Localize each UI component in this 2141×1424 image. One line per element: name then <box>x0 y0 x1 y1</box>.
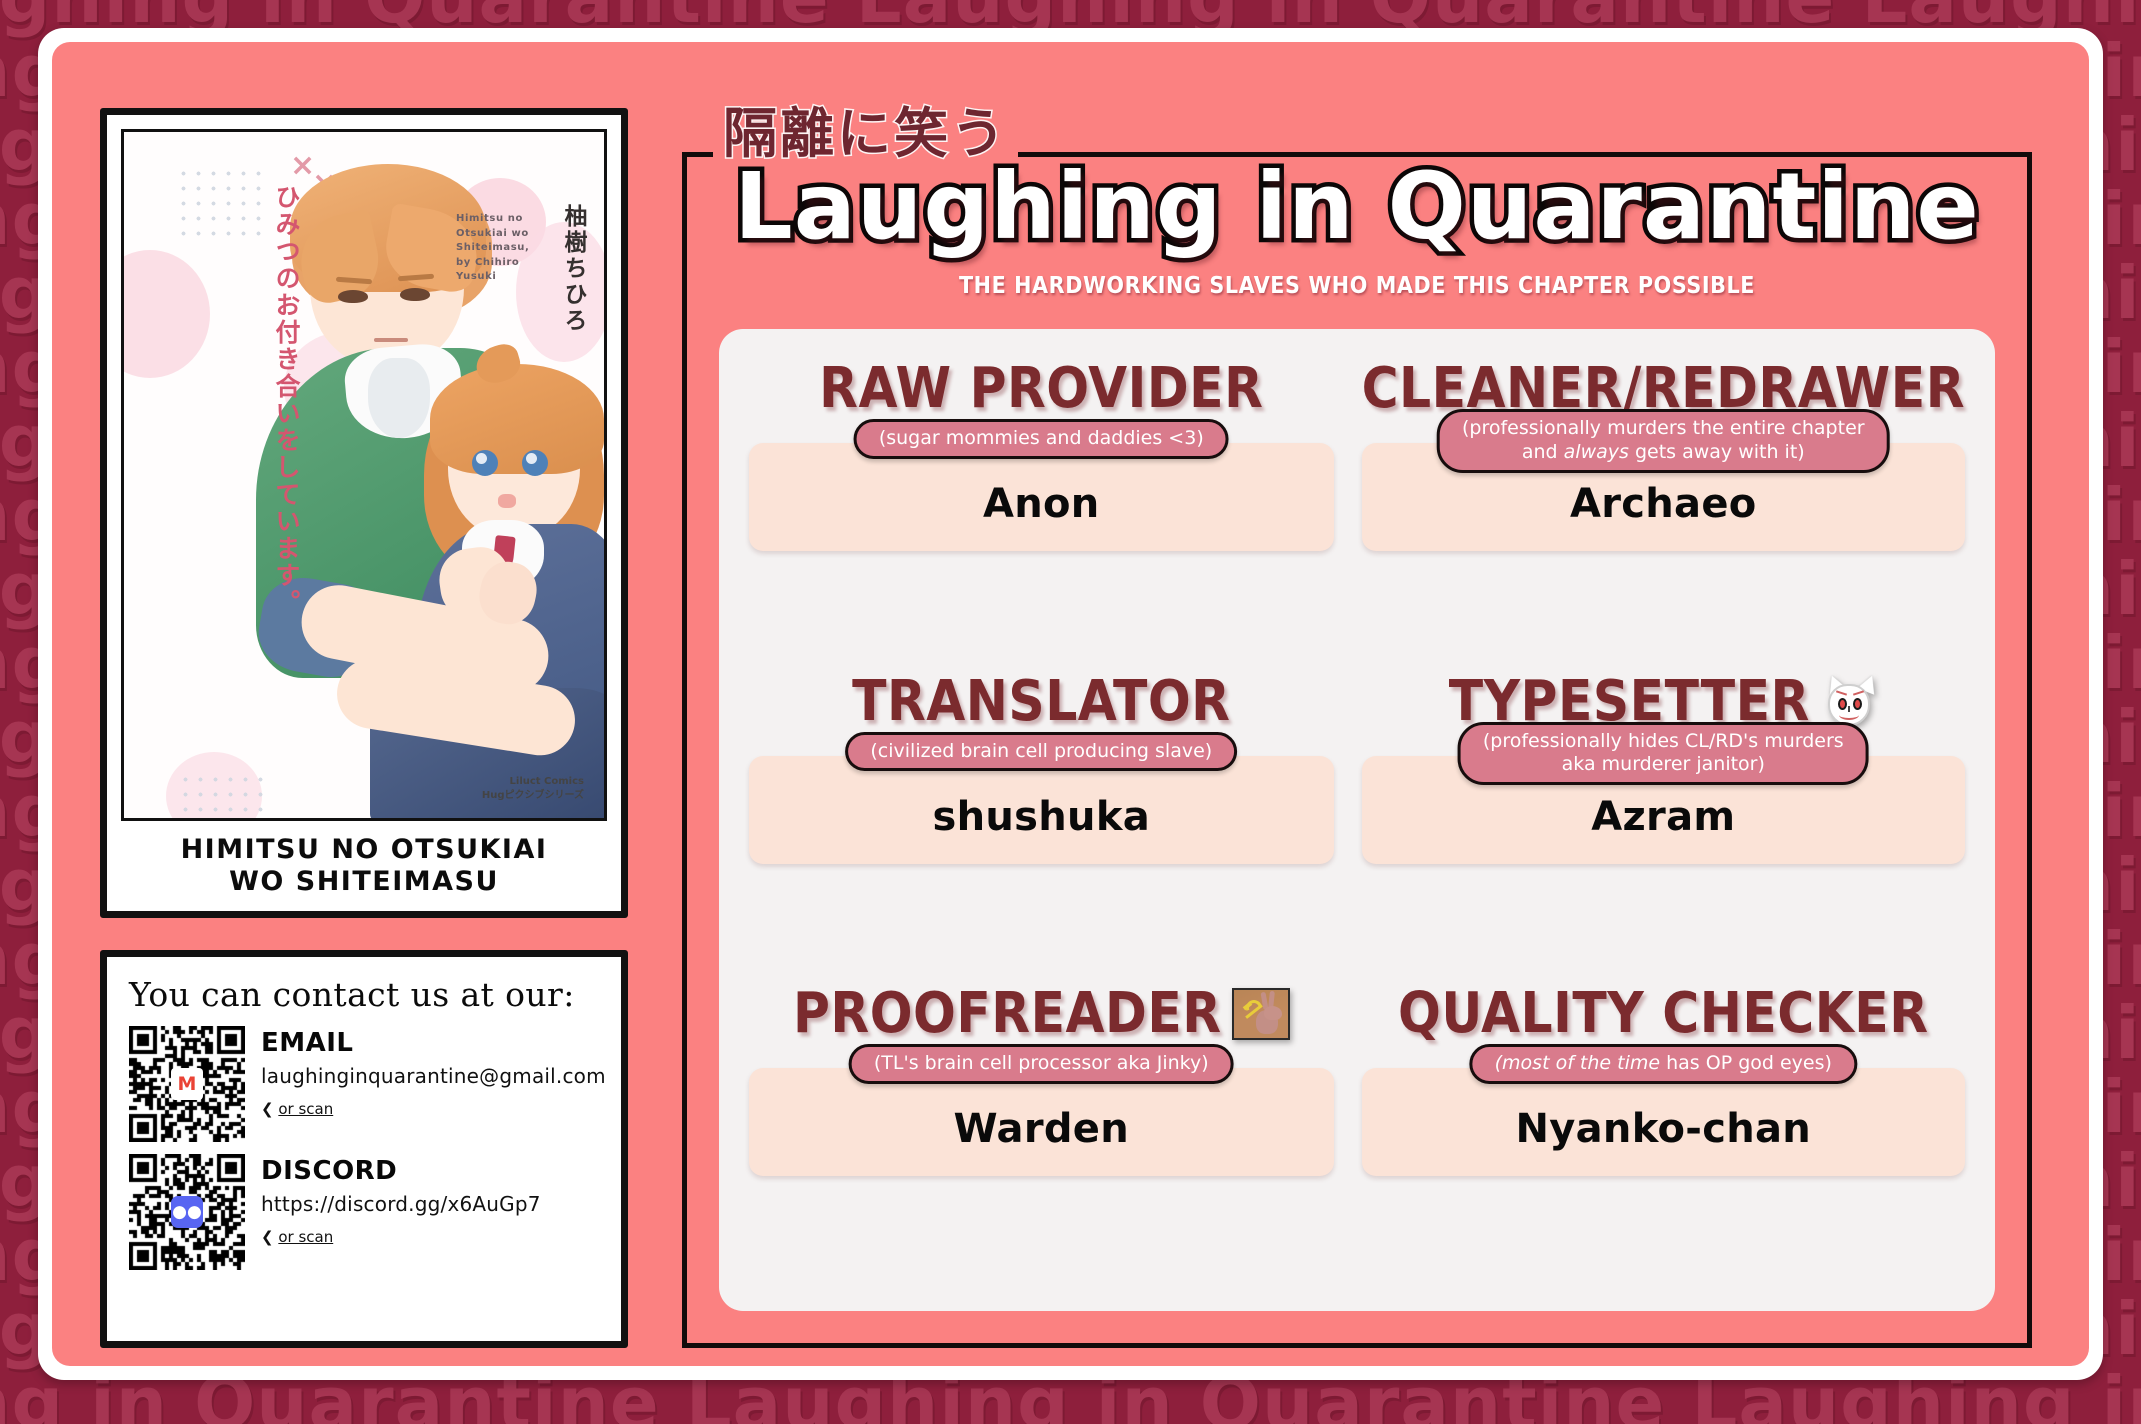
credit-role-label: PROOFREADER <box>793 986 1222 1042</box>
character-boy-mouth <box>374 338 408 342</box>
credit-entry: CLEANER/REDRAWER(professionally murders … <box>1362 351 1965 660</box>
page-root: Laughing in Quarantine Laughing in Quara… <box>0 0 2141 1424</box>
manga-cover-art: × × <box>121 129 607 821</box>
contact-box: You can contact us at our: M EMAIL laugh… <box>100 950 628 1348</box>
decorative-dots <box>178 772 264 821</box>
credits-subtitle: THE HARDWORKING SLAVES WHO MADE THIS CHA… <box>687 273 2027 299</box>
communist-bunny-icon <box>1232 988 1290 1040</box>
cover-japanese-title: ひみつのお付き合いをしています。 <box>269 184 305 616</box>
credit-member-name: Anon <box>983 467 1100 527</box>
credits-panel: 隔離に笑う Laughing in Quarantine THE HARDWOR… <box>682 152 2032 1348</box>
contact-item-email: M EMAIL laughinginquarantine@gmail.com ❮… <box>129 1026 601 1142</box>
credit-entry: RAW PROVIDER(sugar mommies and daddies <… <box>749 351 1334 660</box>
cover-author-name: 柚樹ちひろ <box>557 204 588 334</box>
gmail-icon: M <box>171 1068 203 1100</box>
gmail-qr-code[interactable]: M <box>129 1026 245 1142</box>
credit-name-card: (professionally murders the entire chapt… <box>1362 443 1965 551</box>
character-girl-pupil-right <box>526 453 537 464</box>
credit-entry: TRANSLATOR(civilized brain cell producin… <box>749 664 1334 973</box>
character-girl-hair <box>430 364 604 474</box>
credits-cards-container: RAW PROVIDER(sugar mommies and daddies <… <box>719 329 1995 1311</box>
credit-name-card: (sugar mommies and daddies <3)Anon <box>749 443 1334 551</box>
credit-role-title: TRANSLATOR <box>852 674 1230 730</box>
credit-entry: TYPESETTER(professionally hides CL/RD's … <box>1362 664 1965 973</box>
cover-imprint-line2: Hugピクシブシリーズ <box>482 789 584 803</box>
cat-face-icon <box>1820 676 1878 728</box>
credit-name-card: (TL's brain cell processor aka Jinky)War… <box>749 1068 1334 1176</box>
credit-role-tag: (professionally murders the entire chapt… <box>1437 409 1890 473</box>
outer-white-frame: × × <box>38 28 2103 1380</box>
credit-member-name: Nyanko-chan <box>1515 1092 1811 1152</box>
salmon-panel: × × <box>52 42 2089 1366</box>
credit-role-tag: (TL's brain cell processor aka Jinky) <box>849 1044 1234 1084</box>
contact-discord-scan-hint: ❮ or scan <box>261 1228 541 1246</box>
contact-discord-info: DISCORD https://discord.gg/x6AuGp7 ❮ or … <box>261 1154 541 1270</box>
cover-caption-line1: HIMITSU NO OTSUKIAI <box>181 834 548 866</box>
credit-member-name: shushuka <box>933 780 1151 840</box>
character-boy-eye-right <box>400 288 430 301</box>
credit-role-title: QUALITY CHECKER <box>1398 986 1929 1042</box>
cover-romaji-credit: Himitsu no Otsukiai wo Shiteimasu, by Ch… <box>456 212 548 285</box>
credit-role-tag: (sugar mommies and daddies <3) <box>854 419 1229 459</box>
credit-name-card: (most of the time has OP god eyes)Nyanko… <box>1362 1068 1965 1176</box>
credit-entry: QUALITY CHECKER(most of the time has OP … <box>1362 976 1965 1285</box>
cover-caption-line2: WO SHITEIMASU <box>181 866 548 898</box>
character-girl-mouth <box>498 494 516 508</box>
credit-name-card: (civilized brain cell producing slave)sh… <box>749 756 1334 864</box>
credit-role-label: TRANSLATOR <box>852 674 1230 730</box>
credit-member-name: Azram <box>1591 780 1735 840</box>
character-girl-pupil-left <box>476 453 487 464</box>
credit-name-card: (professionally hides CL/RD's murdersaka… <box>1362 756 1965 864</box>
credit-role-title: RAW PROVIDER <box>819 361 1263 417</box>
cover-imprint: Liluct Comics Hugピクシブシリーズ <box>482 775 584 802</box>
contact-email-value[interactable]: laughinginquarantine@gmail.com <box>261 1064 606 1088</box>
contact-email-scan-hint: ❮ or scan <box>261 1100 606 1118</box>
contact-email-label: EMAIL <box>261 1028 606 1058</box>
decorative-dots <box>176 166 262 236</box>
discord-icon: ●● <box>171 1196 203 1228</box>
credit-member-name: Warden <box>954 1092 1129 1152</box>
credit-role-label: QUALITY CHECKER <box>1398 986 1929 1042</box>
contact-email-info: EMAIL laughinginquarantine@gmail.com ❮ o… <box>261 1026 606 1142</box>
character-boy-collar-inner <box>368 358 430 438</box>
character-boy-eye-left <box>338 290 368 303</box>
credit-member-name: Archaeo <box>1570 467 1757 527</box>
cover-imprint-line1: Liluct Comics <box>482 775 584 789</box>
manga-cover-box: × × <box>100 108 628 918</box>
credits-main-title: Laughing in Quarantine <box>687 153 2027 260</box>
discord-qr-code[interactable]: ●● <box>129 1154 245 1270</box>
credit-role-title: PROOFREADER <box>793 986 1290 1042</box>
contact-discord-label: DISCORD <box>261 1156 541 1186</box>
cover-caption: HIMITSU NO OTSUKIAI WO SHITEIMASU <box>121 833 607 899</box>
credit-role-tag: (professionally hides CL/RD's murdersaka… <box>1458 722 1869 786</box>
contact-heading: You can contact us at our: <box>129 975 601 1014</box>
credit-role-label: RAW PROVIDER <box>819 361 1263 417</box>
credit-role-tag: (civilized brain cell producing slave) <box>845 732 1237 772</box>
contact-item-discord: ●● DISCORD https://discord.gg/x6AuGp7 ❮ … <box>129 1154 601 1270</box>
credit-role-tag: (most of the time has OP god eyes) <box>1470 1044 1857 1084</box>
credit-entry: PROOFREADER(TL's brain cell processor ak… <box>749 976 1334 1285</box>
contact-discord-value[interactable]: https://discord.gg/x6AuGp7 <box>261 1192 541 1216</box>
